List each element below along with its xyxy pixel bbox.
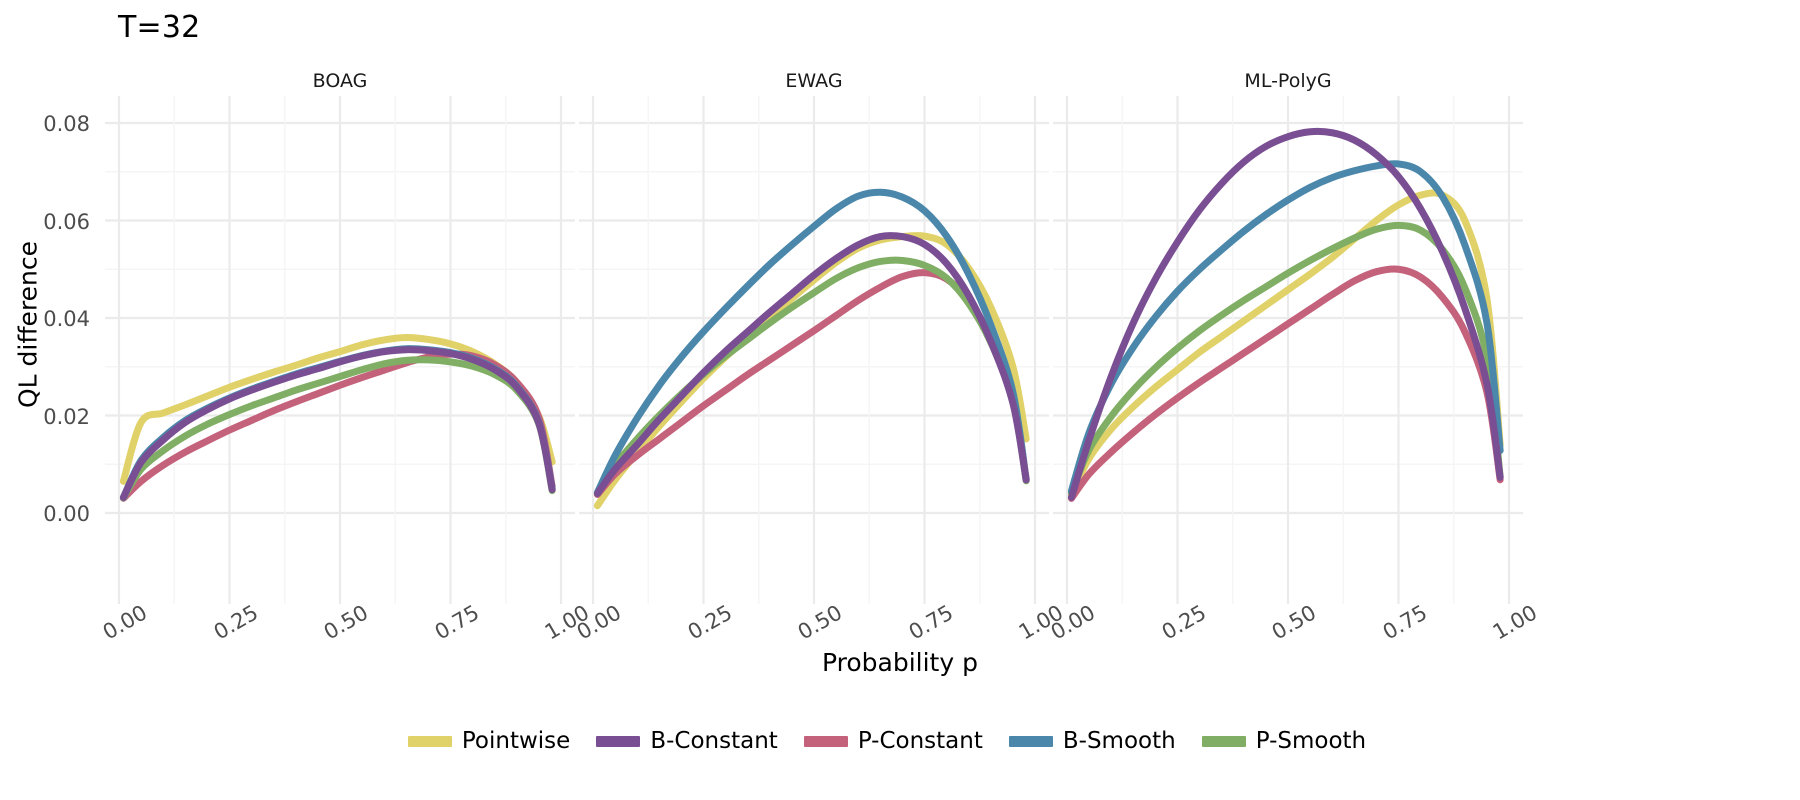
- legend-swatch-icon: [804, 736, 848, 747]
- legend-item-b-constant[interactable]: B-Constant: [596, 728, 777, 754]
- legend-item-b-smooth[interactable]: B-Smooth: [1009, 728, 1176, 754]
- x-tick-label: 0.75: [904, 600, 957, 644]
- legend-label: B-Constant: [650, 728, 777, 754]
- x-tick-label: 0.75: [1378, 600, 1431, 644]
- y-tick-label: 0.08: [0, 112, 90, 136]
- panel-strip-label: ML-PolyG: [1053, 70, 1523, 96]
- x-tick-label: 0.50: [794, 600, 847, 644]
- panel-strip-label: BOAG: [105, 70, 575, 96]
- legend-label: P-Constant: [858, 728, 983, 754]
- x-tick-label: 0.25: [1157, 600, 1210, 644]
- x-tick-label: 0.50: [1268, 600, 1321, 644]
- chart-root: T=32 QL difference Probability p 0.000.0…: [0, 0, 1800, 800]
- panel-plot-boag: [105, 96, 575, 604]
- legend-item-pointwise[interactable]: Pointwise: [408, 728, 570, 754]
- legend-label: Pointwise: [462, 728, 570, 754]
- x-axis-title: Probability p: [0, 648, 1800, 677]
- y-tick-label: 0.06: [0, 210, 90, 234]
- legend-swatch-icon: [596, 736, 640, 747]
- x-tick-label: 0.25: [209, 600, 262, 644]
- y-tick-label: 0.04: [0, 307, 90, 331]
- legend-item-p-smooth[interactable]: P-Smooth: [1202, 728, 1366, 754]
- chart-legend: PointwiseB-ConstantP-ConstantB-SmoothP-S…: [0, 728, 1800, 754]
- x-tick-label: 0.50: [320, 600, 373, 644]
- x-tick-label: 0.00: [99, 600, 152, 644]
- page-title: T=32: [118, 10, 200, 45]
- panel-plot-ml-polyg: [1053, 96, 1523, 604]
- y-tick-label: 0.00: [0, 502, 90, 526]
- y-tick-label: 0.02: [0, 405, 90, 429]
- legend-item-p-constant[interactable]: P-Constant: [804, 728, 983, 754]
- panel-plot-ewag: [579, 96, 1049, 604]
- legend-swatch-icon: [1202, 736, 1246, 747]
- legend-label: B-Smooth: [1063, 728, 1176, 754]
- legend-swatch-icon: [408, 736, 452, 747]
- x-tick-label: 0.25: [683, 600, 736, 644]
- x-tick-label: 0.75: [430, 600, 483, 644]
- legend-swatch-icon: [1009, 736, 1053, 747]
- panel-strip-label: EWAG: [579, 70, 1049, 96]
- x-tick-label: 1.00: [1489, 600, 1542, 644]
- legend-label: P-Smooth: [1256, 728, 1366, 754]
